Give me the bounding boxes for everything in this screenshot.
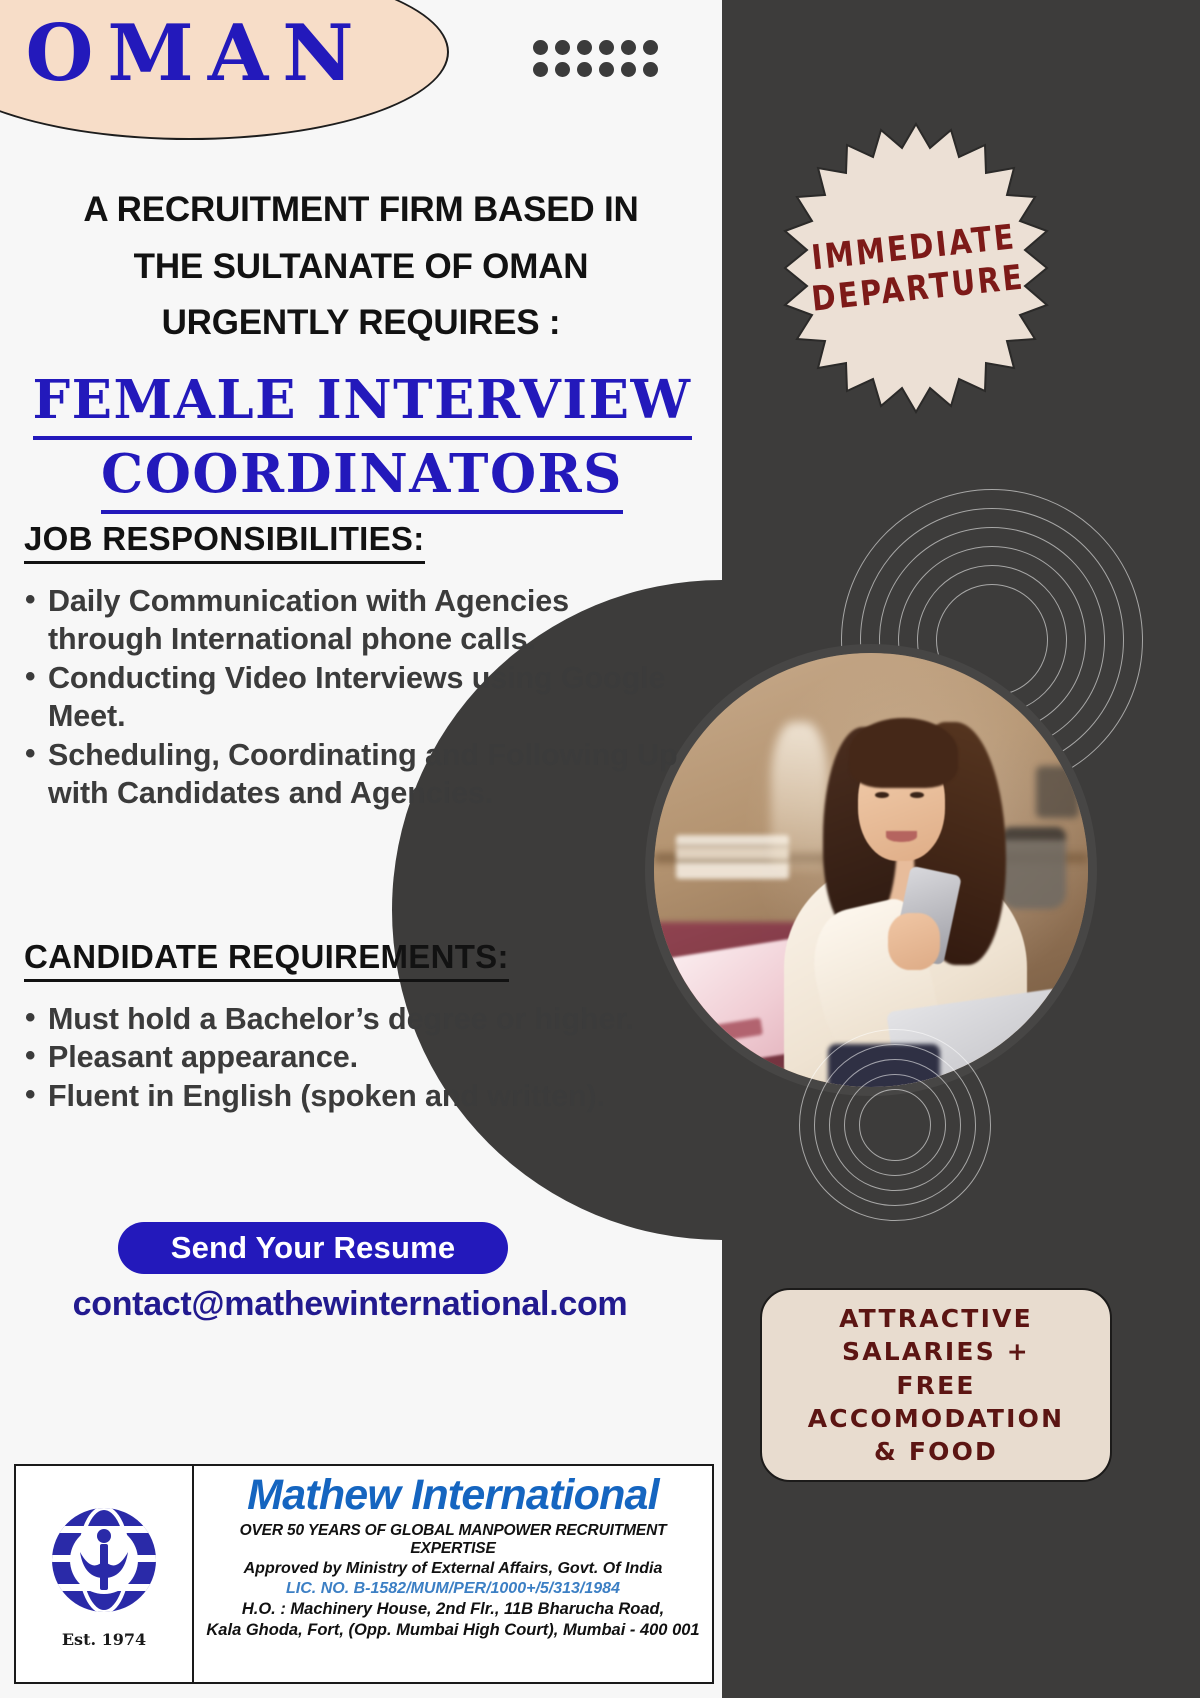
contact-email[interactable]: contact@mathewinternational.com xyxy=(0,1285,700,1324)
recruitment-poster: IMMEDIATE DEPARTURE ATTRACTIVE SALARIES … xyxy=(0,0,1200,1698)
starburst-shape xyxy=(785,124,1047,412)
dot xyxy=(643,40,658,55)
dot xyxy=(599,40,614,55)
responsibilities-list: Daily Communication with Agencies throug… xyxy=(14,582,688,813)
company-address-line-2: Kala Ghoda, Fort, (Opp. Mumbai High Cour… xyxy=(200,1621,706,1640)
dot xyxy=(533,40,548,55)
salary-line-5: & FOOD xyxy=(874,1435,998,1468)
dot xyxy=(621,40,636,55)
intro-line-2: THE SULTANATE OF OMAN xyxy=(16,239,706,296)
job-title-line-1: FEMALE INTERVIEW xyxy=(33,366,692,440)
responsibilities-heading: JOB RESPONSIBILITIES: xyxy=(24,520,425,564)
intro-line-3: URGENTLY REQUIRES : xyxy=(16,295,706,352)
dot xyxy=(643,62,658,77)
list-item: Conducting Video Interviews using Google… xyxy=(48,659,688,736)
requirements-list: Must hold a Bachelor’s degree or higher.… xyxy=(14,1000,688,1115)
company-name: Mathew International xyxy=(200,1472,706,1518)
country-badge: OMAN xyxy=(0,0,449,140)
send-resume-button[interactable]: Send Your Resume xyxy=(118,1222,508,1274)
candidate-photo xyxy=(645,644,1097,1096)
company-footer: Est. 1974 Mathew International OVER 50 Y… xyxy=(14,1464,714,1684)
dot xyxy=(555,40,570,55)
globe-logo-icon xyxy=(40,1500,168,1628)
salary-line-3: FREE xyxy=(896,1369,975,1402)
company-logo-cell: Est. 1974 xyxy=(16,1466,194,1682)
list-item: Fluent in English (spoken and written). xyxy=(48,1077,688,1115)
company-address-line-1: H.O. : Machinery House, 2nd Flr., 11B Bh… xyxy=(200,1600,706,1619)
company-approval: Approved by Ministry of External Affairs… xyxy=(200,1560,706,1578)
company-license: LIC. NO. B-1582/MUM/PER/1000+/5/313/1984 xyxy=(200,1580,706,1598)
requirements-heading: CANDIDATE REQUIREMENTS: xyxy=(24,938,509,982)
photo-image xyxy=(654,653,1088,1087)
list-item: Daily Communication with Agencies throug… xyxy=(48,582,688,659)
job-title-line-2: COORDINATORS xyxy=(101,440,623,514)
dot xyxy=(621,62,636,77)
dot xyxy=(555,62,570,77)
intro-line-1: A RECRUITMENT FIRM BASED IN xyxy=(16,182,706,239)
dot xyxy=(577,40,592,55)
dot xyxy=(599,62,614,77)
immediate-departure-badge: IMMEDIATE DEPARTURE xyxy=(766,118,1066,418)
dot xyxy=(533,62,548,77)
dot-grid-decoration xyxy=(533,40,665,84)
company-tagline: OVER 50 YEARS OF GLOBAL MANPOWER RECRUIT… xyxy=(200,1522,706,1558)
intro-headline: A RECRUITMENT FIRM BASED IN THE SULTANAT… xyxy=(16,182,706,352)
salary-line-2: SALARIES + xyxy=(842,1335,1030,1368)
company-info-cell: Mathew International OVER 50 YEARS OF GL… xyxy=(194,1466,712,1682)
dot xyxy=(577,62,592,77)
page-title: FEMALE INTERVIEW COORDINATORS xyxy=(12,366,712,514)
list-item: Pleasant appearance. xyxy=(48,1038,688,1076)
salary-line-1: ATTRACTIVE xyxy=(839,1302,1033,1335)
list-item: Must hold a Bachelor’s degree or higher. xyxy=(48,1000,688,1038)
established-year: Est. 1974 xyxy=(62,1630,146,1649)
salary-line-4: ACCOMODATION xyxy=(808,1402,1065,1435)
salary-benefits-badge: ATTRACTIVE SALARIES + FREE ACCOMODATION … xyxy=(760,1288,1112,1482)
list-item: Scheduling, Coordinating and Following U… xyxy=(48,736,688,813)
country-badge-label: OMAN xyxy=(0,0,447,140)
